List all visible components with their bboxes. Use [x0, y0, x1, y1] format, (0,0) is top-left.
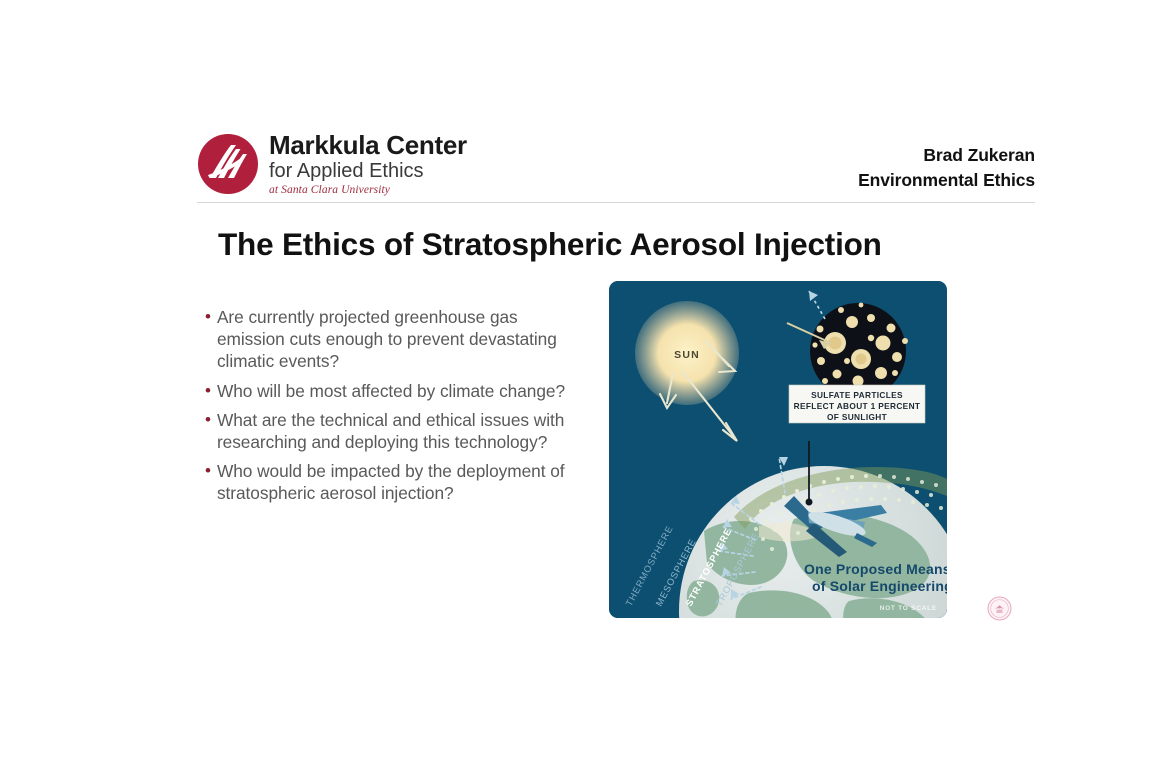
bullet-list: • Are currently projected greenhouse gas… [205, 306, 573, 512]
callout-line-3: OF SUNLIGHT [827, 412, 887, 422]
list-item: • Who will be most affected by climate c… [205, 380, 573, 402]
list-item-text: Are currently projected greenhouse gas e… [217, 306, 573, 373]
presentation-slide: Markkula Center for Applied Ethics at Sa… [0, 0, 1160, 762]
presenter-info: Brad Zukeran Environmental Ethics [858, 143, 1035, 193]
slide-header: Markkula Center for Applied Ethics at Sa… [197, 132, 1035, 204]
university-seal-watermark-icon [987, 596, 1012, 621]
scale-note: NOT TO SCALE [880, 605, 937, 612]
bullet-marker-icon: • [205, 409, 211, 431]
logo-wordmark: Markkula Center for Applied Ethics at Sa… [269, 132, 467, 196]
logo-line-university: at Santa Clara University [269, 185, 467, 197]
bullet-marker-icon: • [205, 460, 211, 482]
presenter-course: Environmental Ethics [858, 168, 1035, 193]
list-item: • Who would be impacted by the deploymen… [205, 460, 573, 504]
logo-line-markkula-center: Markkula Center [269, 132, 467, 159]
list-item-text: What are the technical and ethical issue… [217, 409, 573, 453]
list-item-text: Who will be most affected by climate cha… [217, 380, 565, 402]
page-title: The Ethics of Stratospheric Aerosol Inje… [218, 226, 1018, 263]
markkula-m-monogram-icon [197, 133, 259, 195]
bullet-marker-icon: • [205, 306, 211, 328]
sun-label: SUN [674, 349, 700, 361]
markkula-center-logo: Markkula Center for Applied Ethics at Sa… [197, 132, 467, 196]
diagram-caption-line-1: One Proposed Means [804, 561, 947, 577]
list-item-text: Who would be impacted by the deployment … [217, 460, 573, 504]
list-item: • What are the technical and ethical iss… [205, 409, 573, 453]
list-item: • Are currently projected greenhouse gas… [205, 306, 573, 373]
bullet-marker-icon: • [205, 380, 211, 402]
solar-engineering-diagram: SUN [609, 281, 947, 618]
logo-line-for-applied-ethics: for Applied Ethics [269, 160, 467, 183]
header-divider [197, 202, 1035, 203]
presenter-name: Brad Zukeran [858, 143, 1035, 168]
callout-line-1: SULFATE PARTICLES [811, 390, 903, 400]
callout-line-2: REFLECT ABOUT 1 PERCENT [794, 401, 921, 411]
diagram-caption-line-2: of Solar Engineering [812, 578, 947, 594]
